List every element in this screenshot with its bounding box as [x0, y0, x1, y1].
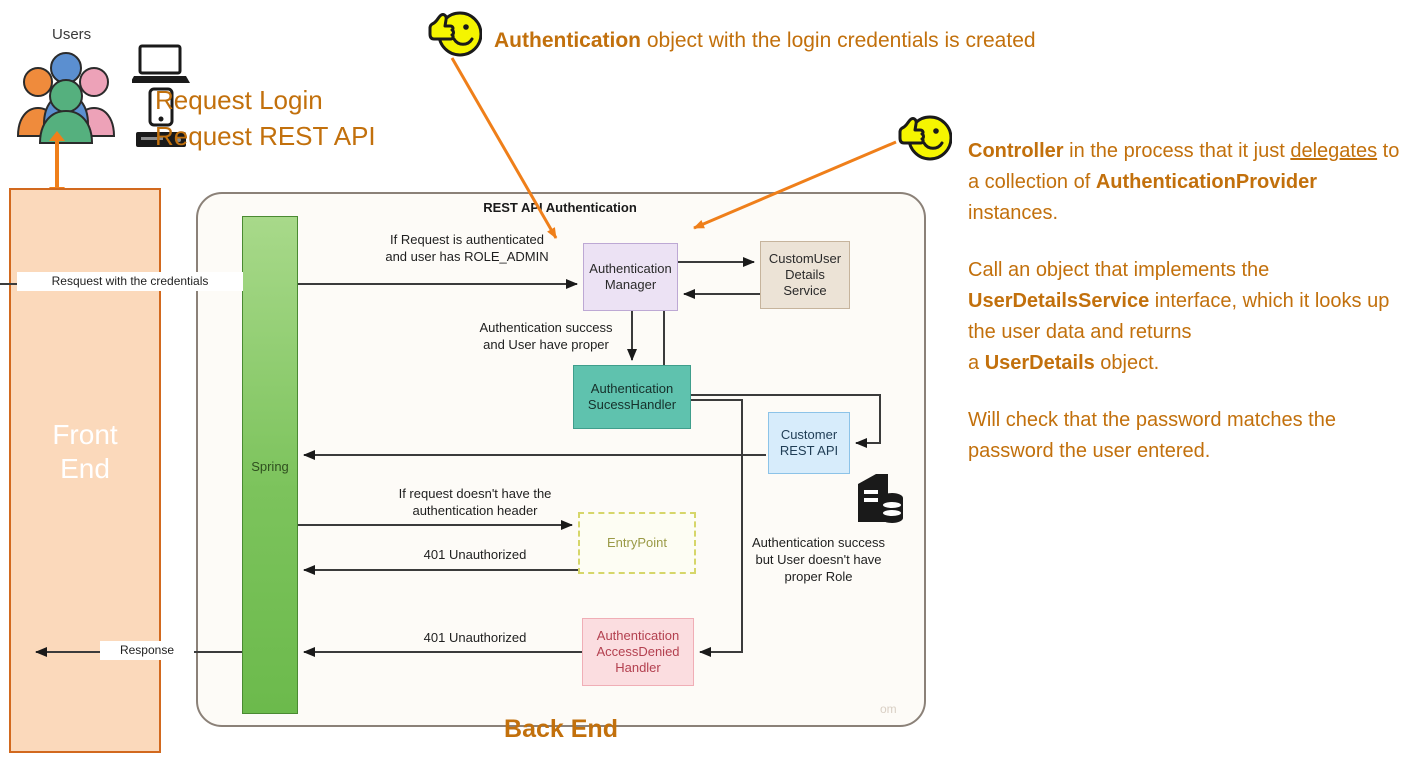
- rest-api-authentication-title: REST API Authentication: [400, 200, 720, 215]
- right-text-column: Controller in the process that it just d…: [968, 136, 1403, 493]
- spring-label: Spring: [242, 459, 298, 474]
- thumbs-up-smiley-icon: [426, 8, 482, 60]
- server-database-icon: [854, 470, 904, 531]
- edge-label-response: Response: [100, 641, 194, 660]
- node-entry-point[interactable]: EntryPoint: [578, 512, 696, 574]
- edge-label-role-admin: If Request is authenticated and user has…: [352, 231, 582, 265]
- callout-1-rest: object with the login credentials is cre…: [641, 29, 1036, 52]
- callout-1-bold: Authentication: [494, 29, 641, 52]
- edge-label-401-unauthorized-entrypoint: 401 Unauthorized: [395, 546, 555, 563]
- watermark: om: [880, 702, 897, 716]
- front-end-label: Front End: [9, 418, 161, 486]
- callout-3-text-4: object.: [1095, 352, 1159, 374]
- callout-controller: Controller in the process that it just d…: [968, 136, 1403, 229]
- callout-3-bold-1: UserDetailsService: [968, 290, 1149, 312]
- users-group-icon: [14, 44, 134, 144]
- users-label: Users: [52, 26, 91, 43]
- callout-3-bold-2: UserDetails: [985, 352, 1095, 374]
- thumbs-up-smiley-icon: [896, 112, 952, 164]
- callout-authentication-object: Authentication object with the login cre…: [494, 26, 1134, 56]
- users-frontend-double-arrow: [55, 140, 59, 188]
- edge-label-no-authentication-header: If request doesn't have the authenticati…: [360, 485, 590, 519]
- node-authentication-manager[interactable]: Authentication Manager: [583, 243, 678, 311]
- node-custom-user-details-service[interactable]: CustomUser Details Service: [760, 241, 850, 309]
- request-login-text: Request Login Request REST API: [155, 82, 376, 154]
- node-authentication-sucess-handler[interactable]: Authentication SucessHandler: [573, 365, 691, 429]
- callout-2-text-1: in the process that it just: [1064, 140, 1291, 162]
- callout-2-bold-1: Controller: [968, 140, 1064, 162]
- request-login-line: Request Login: [155, 82, 376, 118]
- request-rest-api-line: Request REST API: [155, 118, 376, 154]
- callout-password-check: Will check that the password matches the…: [968, 405, 1403, 467]
- laptop-icon: [132, 46, 190, 83]
- callout-2-underline: delegates: [1290, 140, 1377, 162]
- callout-2-text-3: instances.: [968, 202, 1058, 224]
- callout-3-text-3: a: [968, 352, 985, 374]
- node-customer-rest-api[interactable]: Customer REST API: [768, 412, 850, 474]
- node-authentication-access-denied-handler[interactable]: Authentication AccessDenied Handler: [582, 618, 694, 686]
- edge-label-401-unauthorized-accessdenied: 401 Unauthorized: [395, 629, 555, 646]
- edge-label-request-credentials: Resquest with the credentials: [17, 272, 243, 291]
- back-end-label: Back End: [196, 715, 926, 744]
- edge-label-authentication-success: Authentication success and User have pro…: [450, 319, 642, 353]
- edge-label-no-proper-role: Authentication success but User doesn't …: [731, 534, 906, 585]
- callout-userdetailsservice: Call an object that implements the UserD…: [968, 255, 1403, 379]
- callout-3-text-1: Call an object that implements the: [968, 259, 1269, 281]
- callout-2-bold-2: AuthenticationProvider: [1096, 171, 1317, 193]
